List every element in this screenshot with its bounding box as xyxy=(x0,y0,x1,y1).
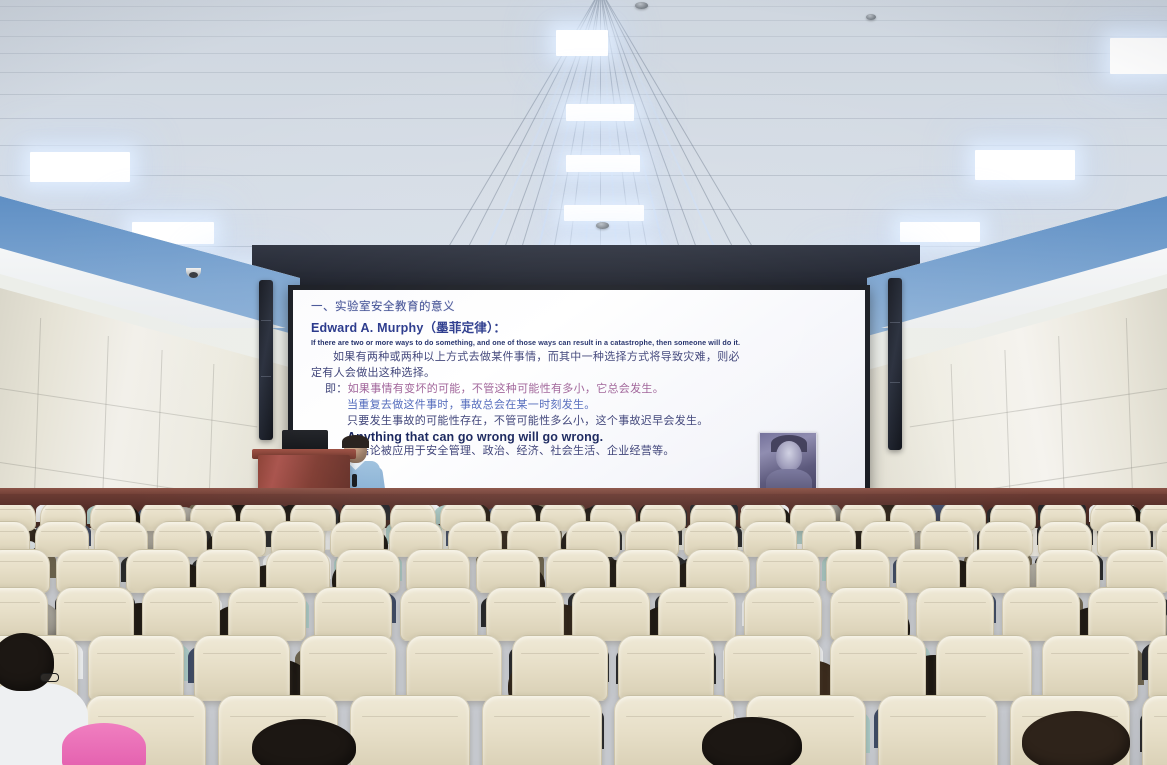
auditorium-seat xyxy=(1002,587,1080,641)
sprinkler-head xyxy=(596,222,609,229)
auditorium-seat xyxy=(936,635,1032,701)
column-speaker-right xyxy=(888,278,902,450)
auditorium-seat xyxy=(724,635,820,701)
screen-soffit xyxy=(252,245,920,285)
audience-head xyxy=(1022,711,1130,765)
auditorium-seat xyxy=(486,587,564,641)
handheld-microphone-icon xyxy=(352,474,357,487)
auditorium-seat xyxy=(314,587,392,641)
auditorium-seat xyxy=(658,587,736,641)
ceiling-light-panel xyxy=(1110,38,1167,74)
auditorium-seat xyxy=(482,695,602,765)
auditorium-seat xyxy=(350,695,470,765)
auditorium-seat xyxy=(406,635,502,701)
auditorium-seat xyxy=(300,635,396,701)
sprinkler-head xyxy=(866,14,876,20)
auditorium-seat xyxy=(572,587,650,641)
auditorium-seat xyxy=(1042,635,1138,701)
slide-subheading: Edward A. Murphy（墨菲定律）： xyxy=(311,317,851,336)
slide-body-line-1: 如果有两种或两种以上方式去做某件事情，而其中一种选择方式将导致灾难，则必 xyxy=(311,350,851,366)
pink-cap xyxy=(62,723,146,765)
auditorium-seat xyxy=(88,635,184,701)
slide-point-row-1: 即：如果事情有变坏的可能，不管这种可能性有多小，它总会发生。 xyxy=(311,382,851,398)
ceiling-light-panel xyxy=(566,155,640,172)
slide-body-line-2: 定有人会做出这种选择。 xyxy=(311,366,851,382)
auditorium-seat xyxy=(142,587,220,641)
ceiling-light-panel xyxy=(30,152,130,182)
auditorium-seat xyxy=(618,635,714,701)
audience-head xyxy=(0,633,54,691)
ceiling-tile-line xyxy=(0,6,1167,7)
ceiling-tile-line xyxy=(0,94,1167,95)
slide-point-2: 当重复去做这件事时，事故总会在某一时刻发生。 xyxy=(311,398,851,414)
slide-english-rule: If there are two or more ways to do some… xyxy=(311,338,851,347)
audience-head xyxy=(702,717,802,765)
auditorium-seat xyxy=(1148,635,1167,701)
sprinkler-head xyxy=(635,2,648,9)
auditorium-seat xyxy=(1088,587,1166,641)
column-speaker-left xyxy=(259,280,273,440)
auditorium-seat xyxy=(194,635,290,701)
slide-heading: 一、实验室安全教育的意义 xyxy=(311,298,851,314)
auditorium-seat xyxy=(228,587,306,641)
ceiling-light-panel xyxy=(556,30,608,56)
slide-point-prefix: 即： xyxy=(325,383,348,395)
auditorium-seat xyxy=(830,587,908,641)
auditorium-seat xyxy=(916,587,994,641)
slide-point-1: 如果事情有变坏的可能，不管这种可能性有多小，它总会发生。 xyxy=(348,383,664,395)
ceiling-light-panel xyxy=(975,150,1075,180)
auditorium-seat xyxy=(1142,695,1167,765)
auditorium-seat xyxy=(878,695,998,765)
ceiling-tile-line xyxy=(0,145,1167,146)
audience-area xyxy=(0,505,1167,765)
slide-point-3: 只要发生事故的可能性存在，不管可能性多么小，这个事故迟早会发生。 xyxy=(311,414,851,430)
auditorium-seat xyxy=(512,635,608,701)
auditorium-seat xyxy=(400,587,478,641)
lecture-hall-photo: 一、实验室安全教育的意义 Edward A. Murphy（墨菲定律）： If … xyxy=(0,0,1167,765)
ceiling-light-panel xyxy=(564,205,644,221)
ceiling-tile-line xyxy=(0,72,1167,73)
auditorium-seat xyxy=(744,587,822,641)
audience-head xyxy=(252,719,356,765)
eyeglasses-icon xyxy=(40,673,59,682)
ceiling-light-panel xyxy=(900,222,980,242)
ceiling-light-panel xyxy=(566,104,634,121)
auditorium-seat xyxy=(56,587,134,641)
auditorium-seat xyxy=(830,635,926,701)
